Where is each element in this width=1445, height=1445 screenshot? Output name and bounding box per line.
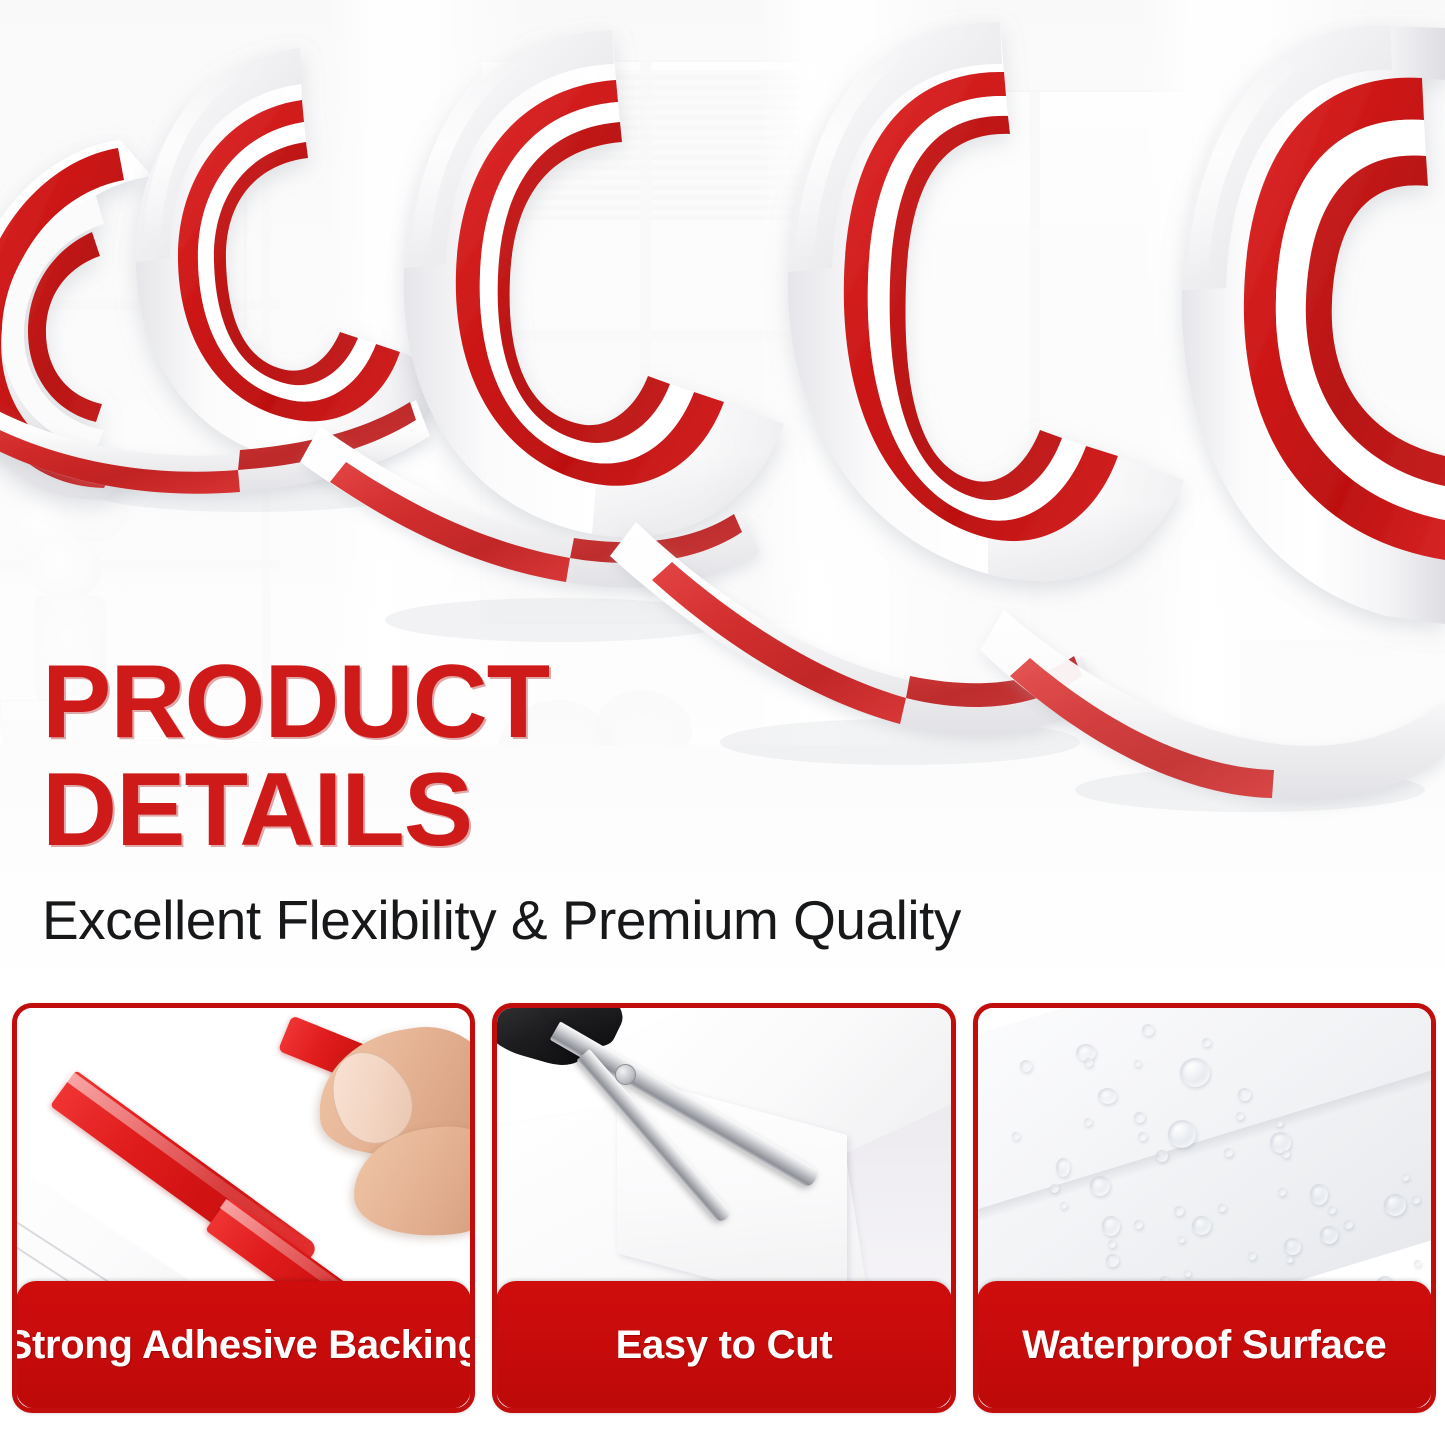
feature-caption-label-2: Easy to Cut — [616, 1323, 833, 1368]
feature-caption-bar-3: Waterproof Surface — [977, 1281, 1432, 1409]
water-droplet — [1134, 1112, 1145, 1123]
water-droplet — [1108, 1240, 1116, 1248]
feature-caption-bar-2: Easy to Cut — [496, 1281, 951, 1409]
tape-coil-2 — [136, 48, 452, 463]
water-droplet — [1056, 1158, 1070, 1177]
page-title: PRODUCT DETAILS — [42, 648, 1162, 864]
water-droplet — [1084, 1058, 1093, 1067]
headline-block: PRODUCT DETAILS Excellent Flexibility & … — [42, 648, 1162, 951]
tape-coil-4 — [788, 22, 1184, 581]
water-droplet — [1276, 1120, 1283, 1127]
water-droplet — [1138, 1132, 1147, 1141]
water-droplet — [1168, 1120, 1196, 1148]
water-droplet — [1384, 1194, 1406, 1216]
page-subtitle: Excellent Flexibility & Premium Quality — [42, 890, 1162, 951]
water-droplet — [1402, 1174, 1409, 1181]
water-droplet — [1344, 1220, 1353, 1229]
feature-card-strong-adhesive-backing[interactable]: Strong Adhesive Backing — [12, 1003, 475, 1413]
water-droplet — [1142, 1024, 1154, 1036]
feature-caption-label-3: Waterproof Surface — [1022, 1323, 1386, 1368]
water-droplet — [1090, 1176, 1110, 1196]
water-droplet — [1012, 1132, 1020, 1140]
water-droplet — [1248, 1252, 1256, 1260]
water-droplet — [1098, 1088, 1117, 1104]
feature-card-waterproof-surface[interactable]: Waterproof Surface — [973, 1003, 1436, 1413]
water-droplet — [1050, 1184, 1059, 1193]
water-droplet — [1412, 1196, 1420, 1204]
water-droplet — [1102, 1216, 1120, 1236]
water-droplet — [1134, 1060, 1141, 1067]
tape-coil-3 — [404, 30, 784, 537]
water-droplet — [1236, 1112, 1244, 1120]
water-droplet — [1320, 1226, 1338, 1244]
feature-caption-bar-1: Strong Adhesive Backing — [16, 1281, 471, 1409]
water-droplet — [1174, 1206, 1184, 1216]
water-droplet — [1084, 1118, 1092, 1126]
water-droplet — [1106, 1254, 1119, 1267]
water-droplet — [1278, 1188, 1286, 1196]
water-droplet — [1414, 1260, 1421, 1267]
product-detail-infographic: PRODUCT DETAILS Excellent Flexibility & … — [0, 0, 1445, 1445]
feature-panel-row: Strong Adhesive Backing — [12, 1003, 1436, 1413]
water-droplet — [1020, 1060, 1032, 1072]
water-droplet — [1310, 1184, 1328, 1205]
water-droplet — [1178, 1236, 1185, 1243]
water-droplet — [1224, 1148, 1233, 1157]
water-droplet — [1060, 1202, 1067, 1209]
water-droplet — [1202, 1038, 1211, 1047]
water-droplet — [1238, 1088, 1251, 1101]
water-droplet — [1286, 1256, 1293, 1263]
water-droplet — [1134, 1220, 1143, 1229]
feature-card-easy-to-cut[interactable]: Easy to Cut — [492, 1003, 955, 1413]
tape-coil-5 — [1182, 26, 1445, 624]
water-droplet — [1180, 1058, 1210, 1087]
water-droplet — [1156, 1150, 1168, 1162]
water-droplet — [1192, 1216, 1211, 1235]
water-droplet — [1218, 1204, 1226, 1212]
water-droplet — [1282, 1150, 1290, 1158]
feature-caption-label-1: Strong Adhesive Backing — [12, 1323, 475, 1368]
water-droplet — [1328, 1206, 1336, 1214]
water-droplet — [1284, 1238, 1301, 1255]
water-droplet — [1184, 1270, 1191, 1277]
